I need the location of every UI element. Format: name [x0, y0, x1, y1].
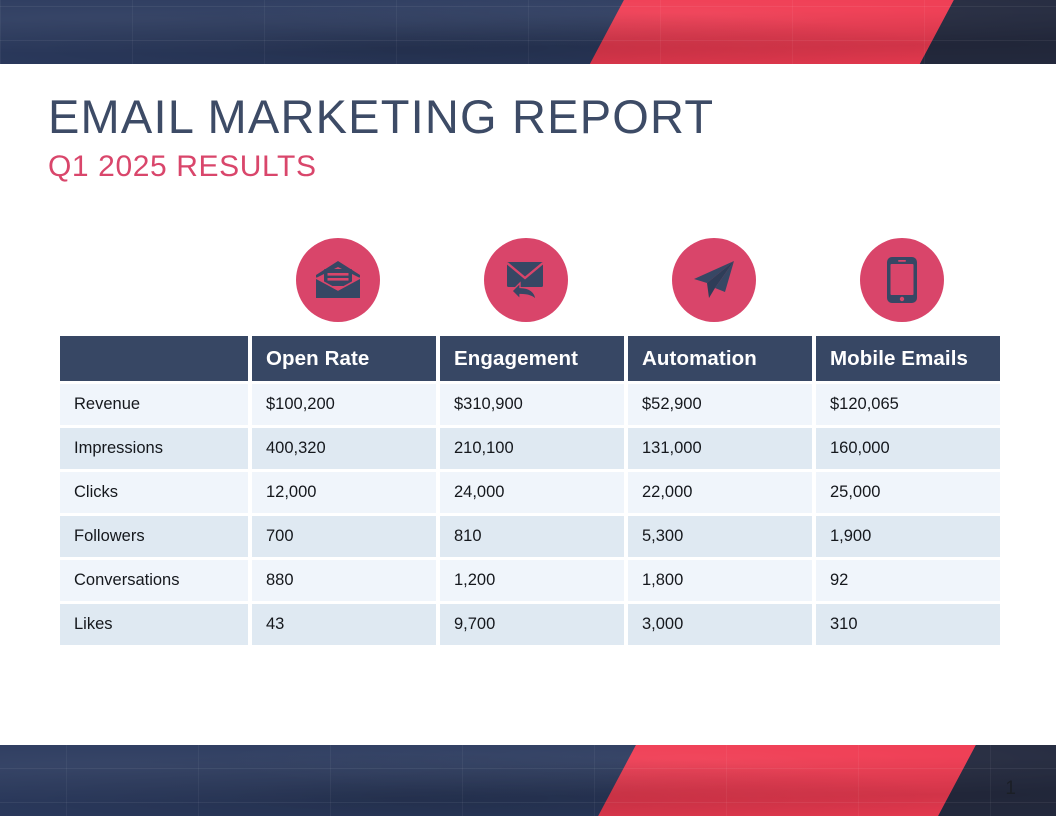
smartphone-icon — [860, 238, 944, 322]
table-cell: 880 — [252, 560, 436, 601]
icon-cell-mobile-emails — [808, 238, 996, 322]
table-header-cell-mobile-emails[interactable]: Mobile Emails — [816, 336, 1000, 381]
table-cell: 131,000 — [628, 428, 812, 469]
table-cell: 12,000 — [252, 472, 436, 513]
table-cell: $120,065 — [816, 384, 1000, 425]
table-cell: 310 — [816, 604, 1000, 645]
table-cell: 700 — [252, 516, 436, 557]
row-label: Followers — [60, 516, 248, 557]
table-row: Conversations 880 1,200 1,800 92 — [60, 560, 1000, 601]
page-number: 1 — [1005, 779, 1016, 798]
table-cell: $52,900 — [628, 384, 812, 425]
table-cell: 92 — [816, 560, 1000, 601]
row-label: Impressions — [60, 428, 248, 469]
table-body: Revenue $100,200 $310,900 $52,900 $120,0… — [60, 384, 1000, 645]
top-decorative-banner — [0, 0, 1056, 64]
page-title: EMAIL MARKETING REPORT — [48, 92, 714, 141]
row-label: Revenue — [60, 384, 248, 425]
table-row: Likes 43 9,700 3,000 310 — [60, 604, 1000, 645]
table-header-cell-engagement[interactable]: Engagement — [440, 336, 624, 381]
table-cell: 24,000 — [440, 472, 624, 513]
table-cell: 160,000 — [816, 428, 1000, 469]
table-cell: 9,700 — [440, 604, 624, 645]
title-block: EMAIL MARKETING REPORT Q1 2025 RESULTS — [48, 92, 714, 183]
row-label: Conversations — [60, 560, 248, 601]
table-header-cell-blank[interactable] — [60, 336, 248, 381]
table-cell: 22,000 — [628, 472, 812, 513]
table-cell: 400,320 — [252, 428, 436, 469]
table-row: Impressions 400,320 210,100 131,000 160,… — [60, 428, 1000, 469]
table-row: Revenue $100,200 $310,900 $52,900 $120,0… — [60, 384, 1000, 425]
table-cell: 25,000 — [816, 472, 1000, 513]
table-header: Open Rate Engagement Automation Mobile E… — [60, 336, 1000, 381]
metrics-table: Open Rate Engagement Automation Mobile E… — [56, 333, 1004, 648]
bottom-decorative-banner — [0, 745, 1056, 816]
table-cell: $100,200 — [252, 384, 436, 425]
icon-row — [244, 238, 996, 322]
envelope-reply-icon — [484, 238, 568, 322]
icon-cell-automation — [620, 238, 808, 322]
paper-plane-icon — [672, 238, 756, 322]
table-header-cell-automation[interactable]: Automation — [628, 336, 812, 381]
icon-cell-open-rate — [244, 238, 432, 322]
table-header-cell-open-rate[interactable]: Open Rate — [252, 336, 436, 381]
page-subtitle: Q1 2025 RESULTS — [48, 151, 714, 183]
table-cell: 810 — [440, 516, 624, 557]
table-cell: 1,900 — [816, 516, 1000, 557]
table-row: Clicks 12,000 24,000 22,000 25,000 — [60, 472, 1000, 513]
table-cell: 43 — [252, 604, 436, 645]
table-cell: 210,100 — [440, 428, 624, 469]
table-cell: 3,000 — [628, 604, 812, 645]
table-header-row: Open Rate Engagement Automation Mobile E… — [60, 336, 1000, 381]
open-envelope-icon — [296, 238, 380, 322]
table-cell: 5,300 — [628, 516, 812, 557]
table-cell: $310,900 — [440, 384, 624, 425]
table-row: Followers 700 810 5,300 1,900 — [60, 516, 1000, 557]
row-label: Likes — [60, 604, 248, 645]
table-cell: 1,200 — [440, 560, 624, 601]
icon-cell-engagement — [432, 238, 620, 322]
table-cell: 1,800 — [628, 560, 812, 601]
row-label: Clicks — [60, 472, 248, 513]
